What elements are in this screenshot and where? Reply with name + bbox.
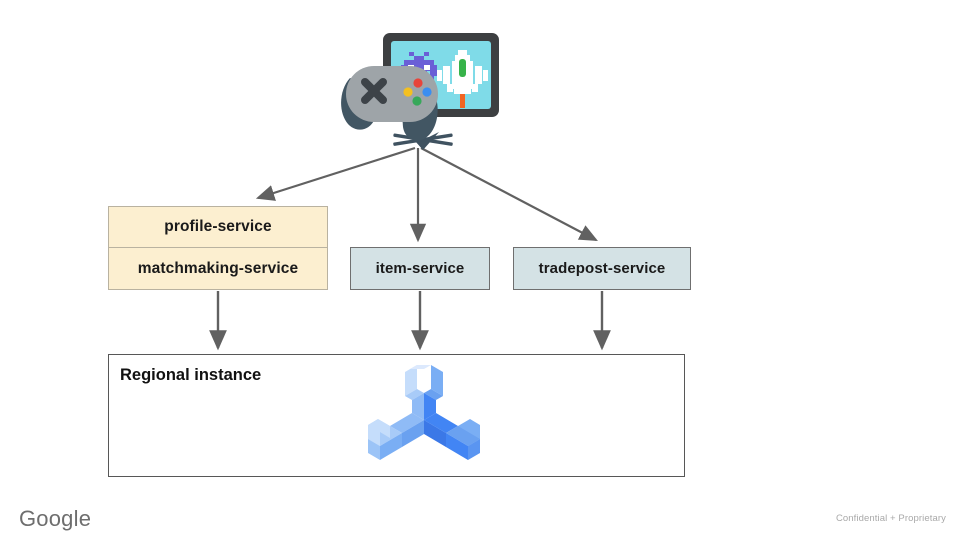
regional-instance-title: Regional instance bbox=[120, 366, 261, 385]
service-label: item-service bbox=[376, 260, 465, 277]
service-box-matchmaking-service[interactable]: matchmaking-service bbox=[108, 247, 328, 290]
google-wordmark: Google bbox=[19, 506, 91, 532]
slide-canvas: profile-service matchmaking-service item… bbox=[0, 0, 960, 540]
confidentiality-notice: Confidential + Proprietary bbox=[836, 513, 946, 524]
arrow-client-to-tradepost-service bbox=[421, 148, 596, 240]
service-box-tradepost-service[interactable]: tradepost-service bbox=[513, 247, 691, 290]
service-box-item-service[interactable]: item-service bbox=[350, 247, 490, 290]
service-box-profile-service[interactable]: profile-service bbox=[108, 206, 328, 248]
service-label: profile-service bbox=[164, 218, 271, 236]
gke-cluster-icon bbox=[360, 362, 488, 470]
arrow-client-to-profile-service bbox=[258, 148, 415, 198]
service-label: matchmaking-service bbox=[138, 260, 298, 278]
game-client-icon bbox=[337, 28, 507, 150]
service-label: tradepost-service bbox=[539, 260, 666, 277]
